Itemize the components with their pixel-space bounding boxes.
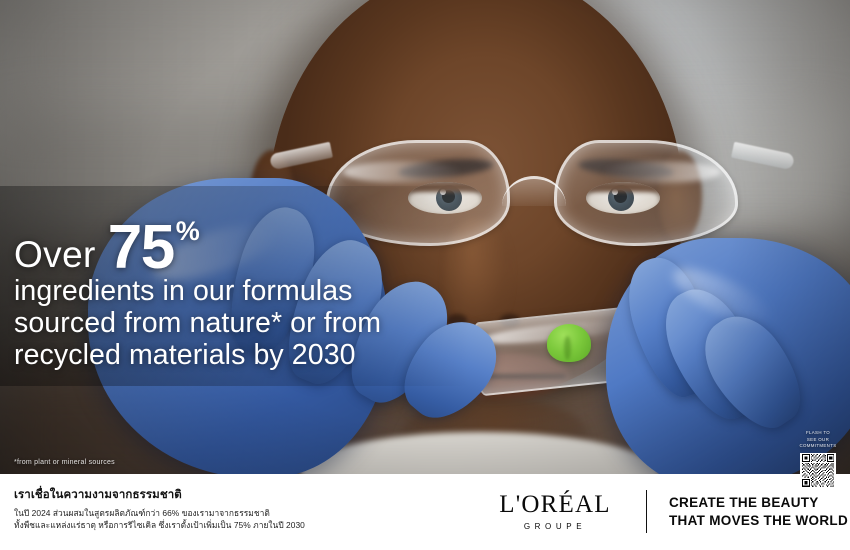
thai-body-line-2: ทั้งพืชและแหล่งแร่ธาตุ หรือการรีไซเคิล ซ… [14,519,305,531]
headline-first-row: Over 75 % [14,214,454,276]
advertisement-poster: Over 75 % ingredients in our formulas so… [0,0,850,550]
headline-statistic: 75 [108,221,174,276]
qr-callout[interactable]: FLASH TO SEE OUR COMMITMENTS [795,430,841,489]
headline-over: Over [14,236,96,276]
qr-label-line-1: FLASH TO [795,430,841,437]
headline-line-4: recycled materials by 2030 [14,340,454,372]
lens-right [554,140,738,246]
headline: Over 75 % ingredients in our formulas so… [14,214,454,372]
tagline-line-1: CREATE THE BEAUTY [669,494,848,512]
brand-lockup: L'ORÉAL GROUPE CREATE THE BEAUTY THAT MO… [482,490,848,533]
tagline-line-2: THAT MOVES THE WORLD [669,512,848,530]
thai-body-line-1: ในปี 2024 ส่วนผสมในสูตรผลิตภัณฑ์กว่า 66%… [14,507,305,519]
headline-line-3: sourced from nature* or from [14,308,454,340]
lens-glare [343,161,463,183]
thai-heading: เราเชื่อในความงามจากธรรมชาติ [14,488,305,503]
lens-glare [601,161,721,183]
loreal-logo: L'ORÉAL GROUPE [482,492,628,531]
qr-code[interactable] [800,453,836,489]
footnote: *from plant or mineral sources [14,459,115,466]
headline-percent-symbol: % [176,218,200,245]
footer-bar: เราเชื่อในความงามจากธรรมชาติ ในปี 2024 ส… [0,474,850,550]
thai-copy-block: เราเชื่อในความงามจากธรรมชาติ ในปี 2024 ส… [14,488,305,532]
brand-tagline: CREATE THE BEAUTY THAT MOVES THE WORLD [669,494,848,530]
thai-body: ในปี 2024 ส่วนผสมในสูตรผลิตภัณฑ์กว่า 66%… [14,507,305,532]
qr-label-line-3: COMMITMENTS [795,443,841,450]
qr-code-glyph [802,454,835,487]
loreal-groupe-label: GROUPE [482,522,628,531]
loreal-wordmark: L'ORÉAL [482,492,628,517]
headline-line-2: ingredients in our formulas [14,276,454,308]
green-sample [547,324,591,362]
brand-divider [646,490,647,533]
